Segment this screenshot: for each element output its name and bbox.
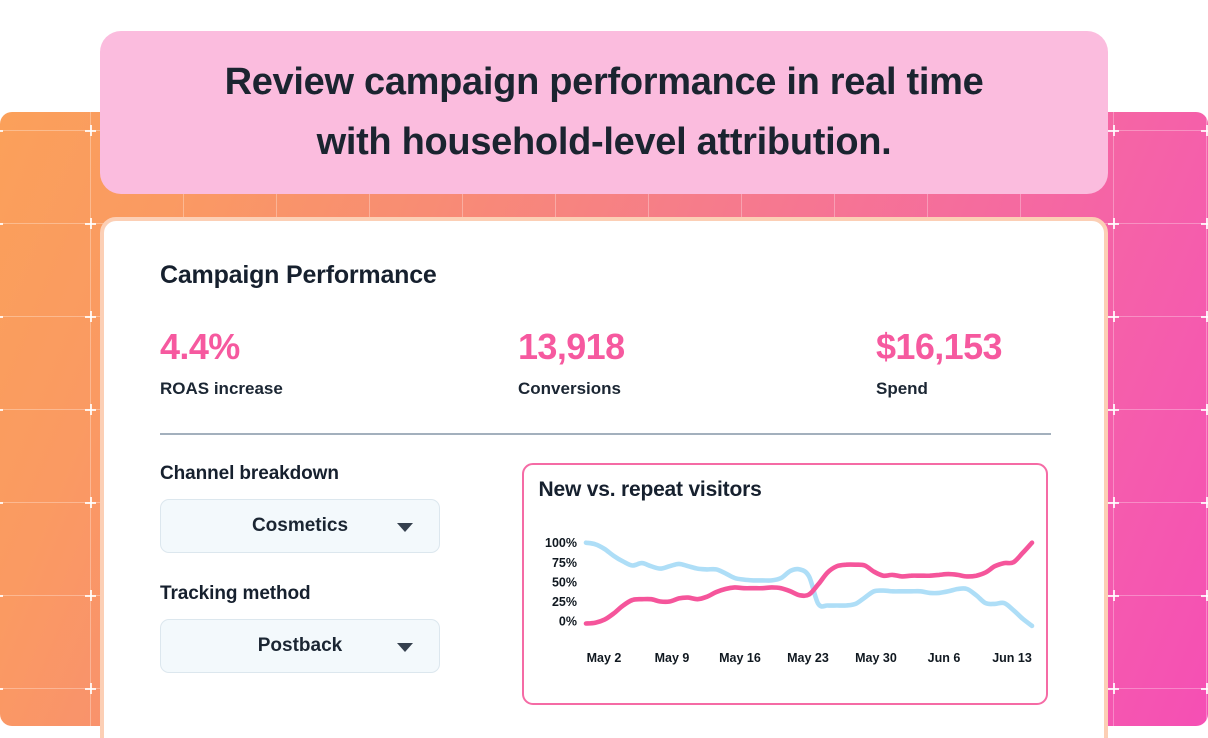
chevron-down-icon <box>397 643 413 652</box>
metric-value: 13,918 <box>518 328 876 366</box>
section-divider <box>160 433 1051 435</box>
page-title: Campaign Performance <box>160 261 1048 290</box>
svg-text:100%: 100% <box>545 536 577 550</box>
channel-breakdown-label: Channel breakdown <box>160 463 516 485</box>
tracking-method-group: Tracking method Postback <box>160 583 516 673</box>
visitors-chart-panel: New vs. repeat visitors 0%25%50%75%100%M… <box>522 463 1048 705</box>
tracking-method-value: Postback <box>258 635 342 657</box>
headline-line-1: Review campaign performance in real time <box>225 61 984 103</box>
svg-text:May 23: May 23 <box>787 651 829 665</box>
svg-text:Jun 6: Jun 6 <box>927 651 960 665</box>
chevron-down-icon <box>397 523 413 532</box>
svg-text:75%: 75% <box>552 556 577 570</box>
metric-conversions: 13,918 Conversions <box>518 328 876 399</box>
channel-breakdown-select[interactable]: Cosmetics <box>160 499 440 553</box>
metric-label: Conversions <box>518 379 876 399</box>
metric-value: 4.4% <box>160 328 518 366</box>
metric-value: $16,153 <box>876 328 1002 366</box>
metrics-row: 4.4% ROAS increase 13,918 Conversions $1… <box>160 328 1048 399</box>
headline-text: Review campaign performance in real time… <box>197 53 1012 172</box>
svg-text:0%: 0% <box>558 614 576 628</box>
controls-column: Channel breakdown Cosmetics Tracking met… <box>160 463 516 705</box>
svg-text:25%: 25% <box>552 595 577 609</box>
screenshot-root: Review campaign performance in real time… <box>0 0 1208 738</box>
svg-text:May 30: May 30 <box>855 651 897 665</box>
metric-label: Spend <box>876 379 1002 399</box>
headline-line-2: with household-level attribution. <box>317 121 892 163</box>
tracking-method-select[interactable]: Postback <box>160 619 440 673</box>
tracking-method-label: Tracking method <box>160 583 516 605</box>
dashboard-card: Campaign Performance 4.4% ROAS increase … <box>100 217 1108 738</box>
metric-spend: $16,153 Spend <box>876 328 1002 399</box>
channel-breakdown-value: Cosmetics <box>252 515 348 537</box>
headline-banner: Review campaign performance in real time… <box>100 31 1108 194</box>
metric-label: ROAS increase <box>160 379 518 399</box>
channel-breakdown-group: Channel breakdown Cosmetics <box>160 463 516 553</box>
svg-text:Jun 13: Jun 13 <box>992 651 1032 665</box>
svg-text:May 16: May 16 <box>719 651 761 665</box>
visitors-line-chart: 0%25%50%75%100%May 2May 9May 16May 23May… <box>524 465 1053 703</box>
metric-roas: 4.4% ROAS increase <box>160 328 518 399</box>
svg-text:50%: 50% <box>552 575 577 589</box>
controls-and-chart: Channel breakdown Cosmetics Tracking met… <box>160 463 1048 705</box>
svg-text:May 2: May 2 <box>586 651 621 665</box>
svg-text:May 9: May 9 <box>654 651 689 665</box>
